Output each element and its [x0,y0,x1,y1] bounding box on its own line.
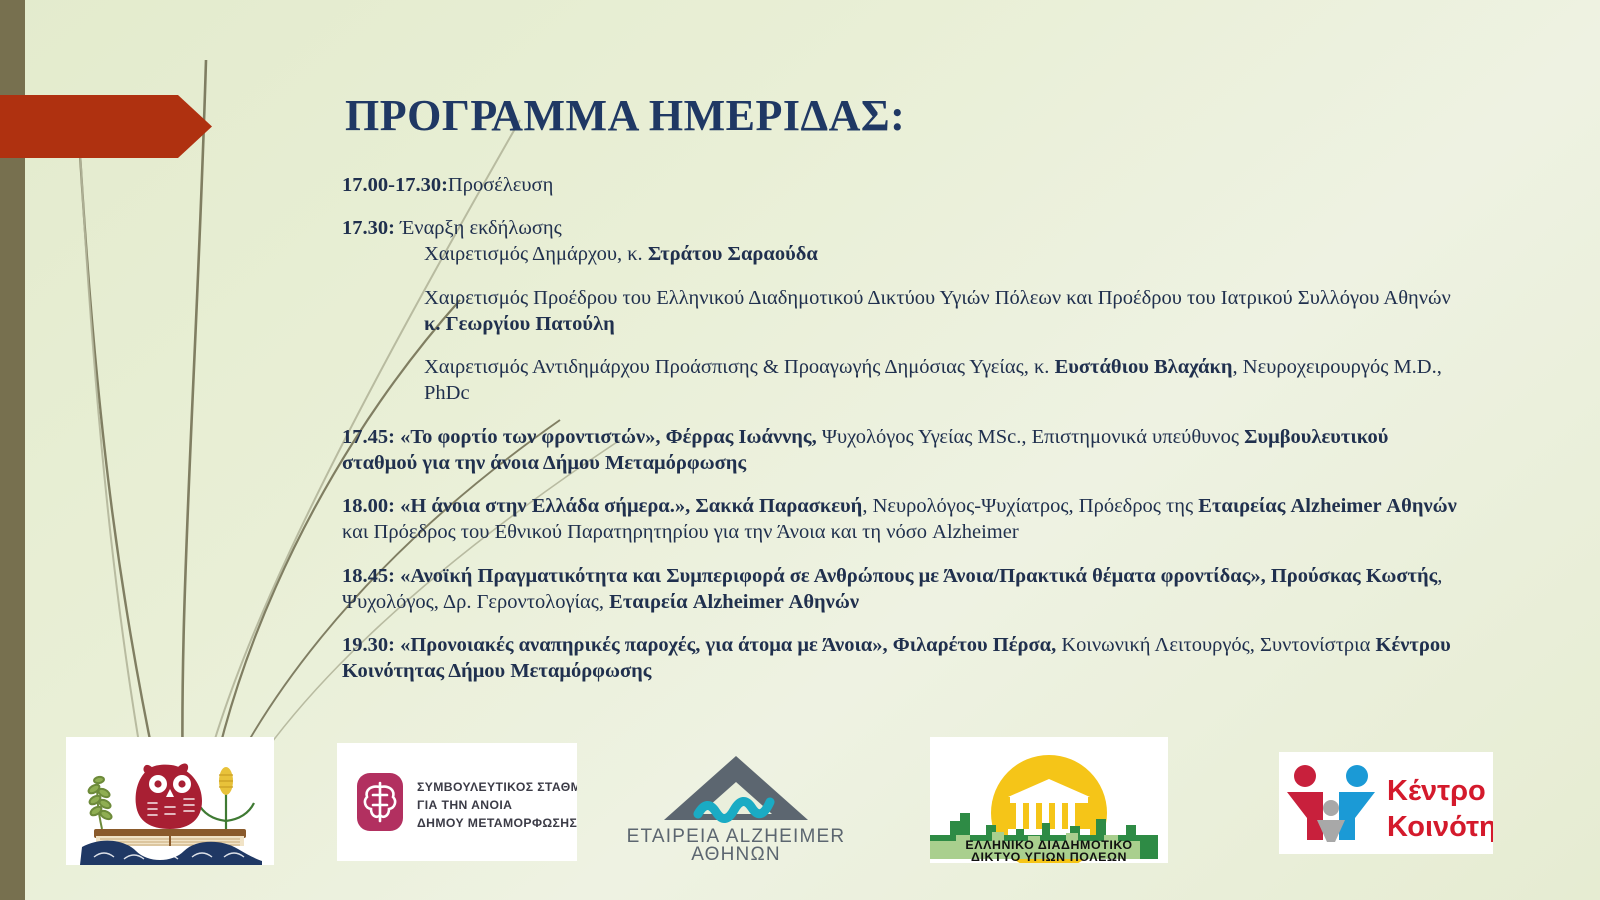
program-entry: Χαιρετισμός Αντιδημάρχου Προάσπισης & Πρ… [342,354,1462,406]
program-entry: Χαιρετισμός Προέδρου του Ελληνικού Διαδη… [342,285,1462,337]
program-text: Χαιρετισμός Δημάρχου, κ. [424,243,648,265]
program-text: Χαιρετισμός Προέδρου του Ελληνικού Διαδη… [424,287,1451,309]
program-text-bold: «Προνοιακές αναπηρικές παροχές, για άτομ… [400,634,1056,656]
program-text-bold: 19.30: [342,634,395,656]
logo-etaireia-alzheimer-athinon: ΕΤΑΙΡΕΙΑ ALZHEIMER ΑΘΗΝΩΝ [612,748,860,860]
logo-line-2: ΓΙΑ ΤΗΝ ΑΝΟΙΑ [417,798,512,812]
program-text-bold: Στράτου Σαραούδα [648,243,818,265]
page-title: ΠΡΟΓΡΑΜΜΑ ΗΜΕΡΙΔΑΣ: [345,92,1445,140]
program-entry: 19.30: «Προνοιακές αναπηρικές παροχές, γ… [342,632,1462,684]
program-line: 19.30: «Προνοιακές αναπηρικές παροχές, γ… [342,632,1462,684]
program-text-bold: 17.45: [342,426,395,448]
program-text: , Νευρολόγος-Ψυχίατρος, Πρόεδρος της [862,495,1198,517]
program-line: 18.00: «Η άνοια στην Ελλάδα σήμερα.», Σα… [342,493,1462,545]
program-text-bold: «Το φορτίο των φροντιστών», Φέρρας Ιωάνν… [400,426,817,448]
program-text-bold: Εταιρείας Alzheimer Αθηνών [1198,495,1457,517]
logo-kentro-koinotitas: Κέντρο Κοινότητας [1279,752,1493,854]
program-text: Προσέλευση [448,174,553,196]
program-line: 17.00-17.30:Προσέλευση [342,172,1462,198]
program-text-bold: 17.30: [342,217,395,239]
program-text-bold: 18.00: [342,495,395,517]
program-entry: 17.45: «Το φορτίο των φροντιστών», Φέρρα… [342,424,1462,476]
program-entry: 17.00-17.30:Προσέλευση [342,172,1462,198]
presentation-slide: ΠΡΟΓΡΑΜΜΑ ΗΜΕΡΙΔΑΣ: 17.00-17.30:Προσέλευ… [0,0,1600,900]
program-entry: 17.30: Έναρξη εκδήλωσηςΧαιρετισμός Δημάρ… [342,215,1462,267]
program-line: Χαιρετισμός Δημάρχου, κ. Στράτου Σαραούδ… [342,241,1462,267]
program-text-bold: Ευστάθιου Βλαχάκη [1055,356,1233,378]
logo-elliniko-diadimotiko-diktyo: ΕΛΛΗΝΙΚΟ ΔΙΑΔΗΜΟΤΙΚΟ ΔΙΚΤΥΟ ΥΓΙΩΝ ΠΟΛΕΩΝ [930,737,1168,863]
program-text-bold: Εταιρεία Alzheimer Αθηνών [609,591,859,613]
logo-line-2: ΑΘΗΝΩΝ [691,844,781,860]
program-text-bold: 17.00-17.30: [342,174,448,196]
program-text-bold: κ. Γεωργίου Πατούλη [424,313,615,335]
program-entry: 18.45: «Ανοϊκή Πραγματικότητα και Συμπερ… [342,563,1462,615]
logo-symvouleftikos-stathmos: ΣΥΜΒΟΥΛΕΥΤΙΚΟΣ ΣΤΑΘΜΟΣ ΓΙΑ ΤΗΝ ΑΝΟΙΑ ΔΗΜ… [337,743,577,861]
program-entry: 18.00: «Η άνοια στην Ελλάδα σήμερα.», Σα… [342,493,1462,545]
logo-municipality-metamorfosi [66,737,274,865]
logo-line-1: Κέντρο [1387,775,1486,807]
program-line: Χαιρετισμός Αντιδημάρχου Προάσπισης & Πρ… [342,354,1462,406]
program-text-bold: «Ανοϊκή Πραγματικότητα και Συμπεριφορά σ… [400,565,1437,587]
program-line: 17.45: «Το φορτίο των φροντιστών», Φέρρα… [342,424,1462,476]
program-line: 18.45: «Ανοϊκή Πραγματικότητα και Συμπερ… [342,563,1462,615]
program-text: Έναρξη εκδήλωσης [395,217,562,239]
program-text: Ψυχολόγος Υγείας MSc., Επιστημονικά υπεύ… [817,426,1244,448]
logo-line-1: ΣΥΜΒΟΥΛΕΥΤΙΚΟΣ ΣΤΑΘΜΟΣ [417,780,577,794]
program-text: Κοινωνική Λειτουργός, Συντονίστρια [1056,634,1375,656]
program-text-bold: «Η άνοια στην Ελλάδα σήμερα.», Σακκά Παρ… [400,495,862,517]
program-line: 17.30: Έναρξη εκδήλωσης [342,215,1462,241]
program-line: Χαιρετισμός Προέδρου του Ελληνικού Διαδη… [342,285,1462,337]
program-text: Χαιρετισμός Αντιδημάρχου Προάσπισης & Πρ… [424,356,1055,378]
logo-line-2: ΔΙΚΤΥΟ ΥΓΙΩΝ ΠΟΛΕΩΝ [971,850,1127,863]
program-text: και Πρόεδρος του Εθνικού Παρατηρητηρίου … [342,521,1019,543]
program-list: 17.00-17.30:Προσέλευση17.30: Έναρξη εκδή… [342,172,1462,702]
logo-line-2: Κοινότητας [1387,811,1493,843]
logo-line-3: ΔΗΜΟΥ ΜΕΤΑΜΟΡΦΩΣΗΣ [417,816,577,830]
program-text-bold: 18.45: [342,565,395,587]
arrow-banner-shape [0,95,212,158]
